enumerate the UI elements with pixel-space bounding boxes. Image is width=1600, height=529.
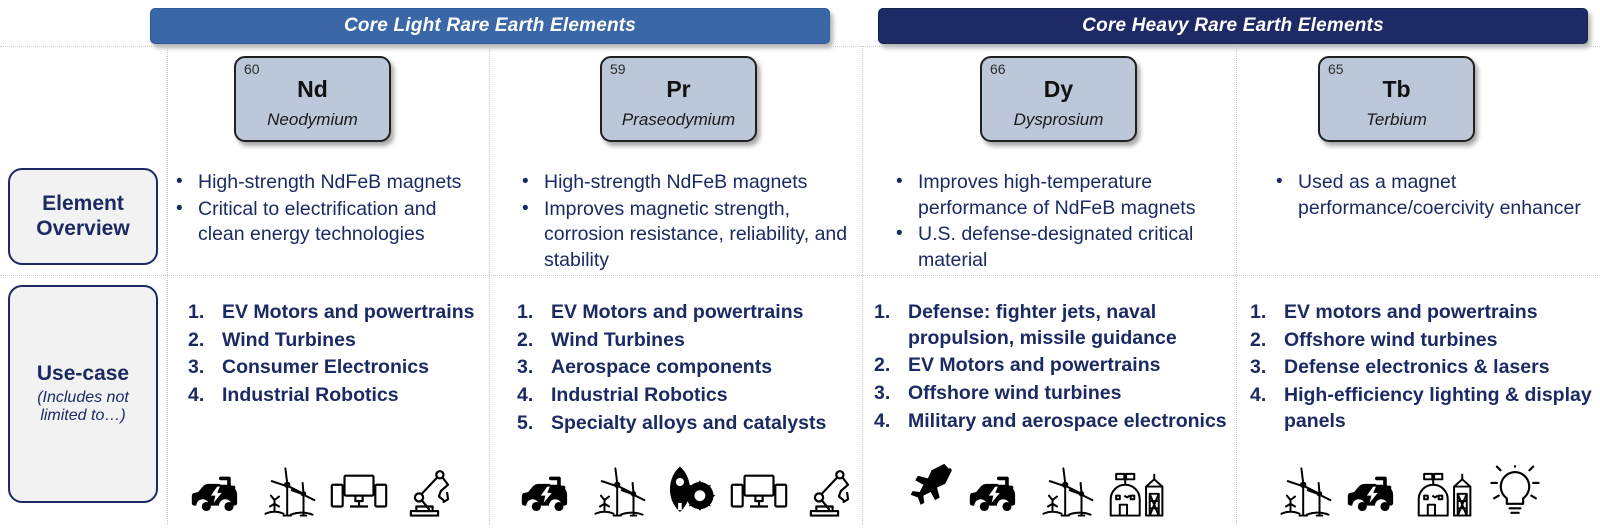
column-divider-3 bbox=[1236, 46, 1237, 525]
row-label-overview-title: ElementOverview bbox=[36, 192, 129, 242]
wind-turbine-icon bbox=[1276, 463, 1334, 521]
column-divider-2 bbox=[862, 46, 863, 525]
icon-row-nd bbox=[190, 463, 458, 521]
list-item: High-efficiency lighting & display panel… bbox=[1248, 383, 1593, 434]
usecase-column-tb: EV motors and powertrains Offshore wind … bbox=[1248, 300, 1593, 437]
overview-column-nd: High-strength NdFeB magnets Critical to … bbox=[172, 170, 484, 249]
column-divider-0 bbox=[167, 46, 168, 525]
list-item: Industrial Robotics bbox=[515, 383, 855, 409]
element-name-nd: Neodymium bbox=[236, 110, 389, 130]
overview-list-tb: Used as a magnet performance/coercivity … bbox=[1272, 170, 1582, 221]
light-bulb-icon bbox=[1486, 463, 1544, 521]
element-number-tb: 65 bbox=[1328, 61, 1344, 77]
element-card-nd: 60 Nd Neodymium bbox=[234, 56, 391, 142]
ev-car-icon bbox=[520, 463, 578, 521]
ev-car-icon bbox=[190, 463, 248, 521]
element-symbol-pr: Pr bbox=[602, 76, 755, 103]
icon-row-pr bbox=[520, 463, 858, 521]
list-item: EV Motors and powertrains bbox=[186, 300, 486, 326]
overview-column-pr: High-strength NdFeB magnets Improves mag… bbox=[518, 170, 848, 275]
list-item: EV Motors and powertrains bbox=[515, 300, 855, 326]
row-label-usecase-subtitle: (Includes notlimited to…) bbox=[37, 389, 129, 427]
list-item: Industrial Robotics bbox=[186, 383, 486, 409]
overview-item: High-strength NdFeB magnets bbox=[172, 170, 484, 196]
element-name-dy: Dysprosium bbox=[982, 110, 1135, 130]
list-item: Wind Turbines bbox=[186, 328, 486, 354]
wind-turbine-icon bbox=[260, 463, 318, 521]
list-item: EV Motors and powertrains bbox=[872, 353, 1232, 379]
ev-car-icon bbox=[968, 463, 1026, 521]
list-item: Aerospace components bbox=[515, 355, 855, 381]
overview-item: U.S. defense-designated critical materia… bbox=[892, 222, 1232, 273]
military-base-icon bbox=[1416, 463, 1474, 521]
banner-heavy-label: Core Heavy Rare Earth Elements bbox=[1082, 15, 1384, 37]
element-card-tb: 65 Tb Terbium bbox=[1318, 56, 1475, 142]
overview-item: Improves magnetic strength, corrosion re… bbox=[518, 197, 848, 274]
overview-item: Used as a magnet performance/coercivity … bbox=[1272, 170, 1582, 221]
list-item: Defense: fighter jets, naval propulsion,… bbox=[872, 300, 1232, 351]
element-number-dy: 66 bbox=[990, 61, 1006, 77]
row-divider bbox=[0, 275, 1600, 276]
list-item: Defense electronics & lasers bbox=[1248, 355, 1593, 381]
overview-column-tb: Used as a magnet performance/coercivity … bbox=[1272, 170, 1582, 222]
overview-item: High-strength NdFeB magnets bbox=[518, 170, 848, 196]
element-name-tb: Terbium bbox=[1320, 110, 1473, 130]
rare-earth-elements-infographic: Core Light Rare Earth Elements Core Heav… bbox=[0, 0, 1600, 529]
row-label-use-case: Use-case (Includes notlimited to…) bbox=[8, 285, 158, 503]
usecase-column-dy: Defense: fighter jets, naval propulsion,… bbox=[872, 300, 1232, 437]
list-item: Military and aerospace electronics bbox=[872, 409, 1232, 435]
header-divider bbox=[0, 46, 1600, 47]
banner-core-heavy-rare-earth: Core Heavy Rare Earth Elements bbox=[878, 8, 1588, 44]
list-item: EV motors and powertrains bbox=[1248, 300, 1593, 326]
overview-item: Improves high-temperature performance of… bbox=[892, 170, 1232, 221]
element-card-pr: 59 Pr Praseodymium bbox=[600, 56, 757, 142]
fighter-jet-icon bbox=[898, 463, 956, 521]
rocket-gear-icon bbox=[660, 463, 718, 521]
banner-light-label: Core Light Rare Earth Elements bbox=[344, 15, 636, 37]
row-label-element-overview: ElementOverview bbox=[8, 168, 158, 265]
devices-icon bbox=[330, 463, 388, 521]
usecase-column-nd: EV Motors and powertrains Wind Turbines … bbox=[186, 300, 486, 411]
element-number-nd: 60 bbox=[244, 61, 260, 77]
element-card-dy: 66 Dy Dysprosium bbox=[980, 56, 1137, 142]
list-item: Consumer Electronics bbox=[186, 355, 486, 381]
overview-list-nd: High-strength NdFeB magnets Critical to … bbox=[172, 170, 484, 248]
list-item: Wind Turbines bbox=[515, 328, 855, 354]
list-item: Specialty alloys and catalysts bbox=[515, 411, 855, 437]
element-symbol-tb: Tb bbox=[1320, 76, 1473, 103]
robot-arm-icon bbox=[400, 463, 458, 521]
overview-list-pr: High-strength NdFeB magnets Improves mag… bbox=[518, 170, 848, 274]
icon-row-dy bbox=[898, 463, 1166, 521]
wind-turbine-icon bbox=[1038, 463, 1096, 521]
ev-car-icon bbox=[1346, 463, 1404, 521]
banner-core-light-rare-earth: Core Light Rare Earth Elements bbox=[150, 8, 830, 44]
military-base-icon bbox=[1108, 463, 1166, 521]
overview-list-dy: Improves high-temperature performance of… bbox=[892, 170, 1232, 274]
overview-column-dy: Improves high-temperature performance of… bbox=[892, 170, 1232, 275]
overview-item: Critical to electrification and clean en… bbox=[172, 197, 484, 248]
usecase-list-tb: EV motors and powertrains Offshore wind … bbox=[1248, 300, 1593, 435]
wind-turbine-icon bbox=[590, 463, 648, 521]
row-label-usecase-title: Use-case bbox=[37, 362, 129, 387]
element-number-pr: 59 bbox=[610, 61, 626, 77]
usecase-list-nd: EV Motors and powertrains Wind Turbines … bbox=[186, 300, 486, 409]
robot-arm-icon bbox=[800, 463, 858, 521]
icon-row-tb bbox=[1276, 463, 1544, 521]
usecase-list-dy: Defense: fighter jets, naval propulsion,… bbox=[872, 300, 1232, 435]
list-item: Offshore wind turbines bbox=[872, 381, 1232, 407]
column-divider-1 bbox=[489, 46, 490, 525]
usecase-column-pr: EV Motors and powertrains Wind Turbines … bbox=[515, 300, 855, 439]
list-item: Offshore wind turbines bbox=[1248, 328, 1593, 354]
element-symbol-dy: Dy bbox=[982, 76, 1135, 103]
element-name-pr: Praseodymium bbox=[602, 110, 755, 130]
usecase-list-pr: EV Motors and powertrains Wind Turbines … bbox=[515, 300, 855, 437]
devices-icon bbox=[730, 463, 788, 521]
element-symbol-nd: Nd bbox=[236, 76, 389, 103]
